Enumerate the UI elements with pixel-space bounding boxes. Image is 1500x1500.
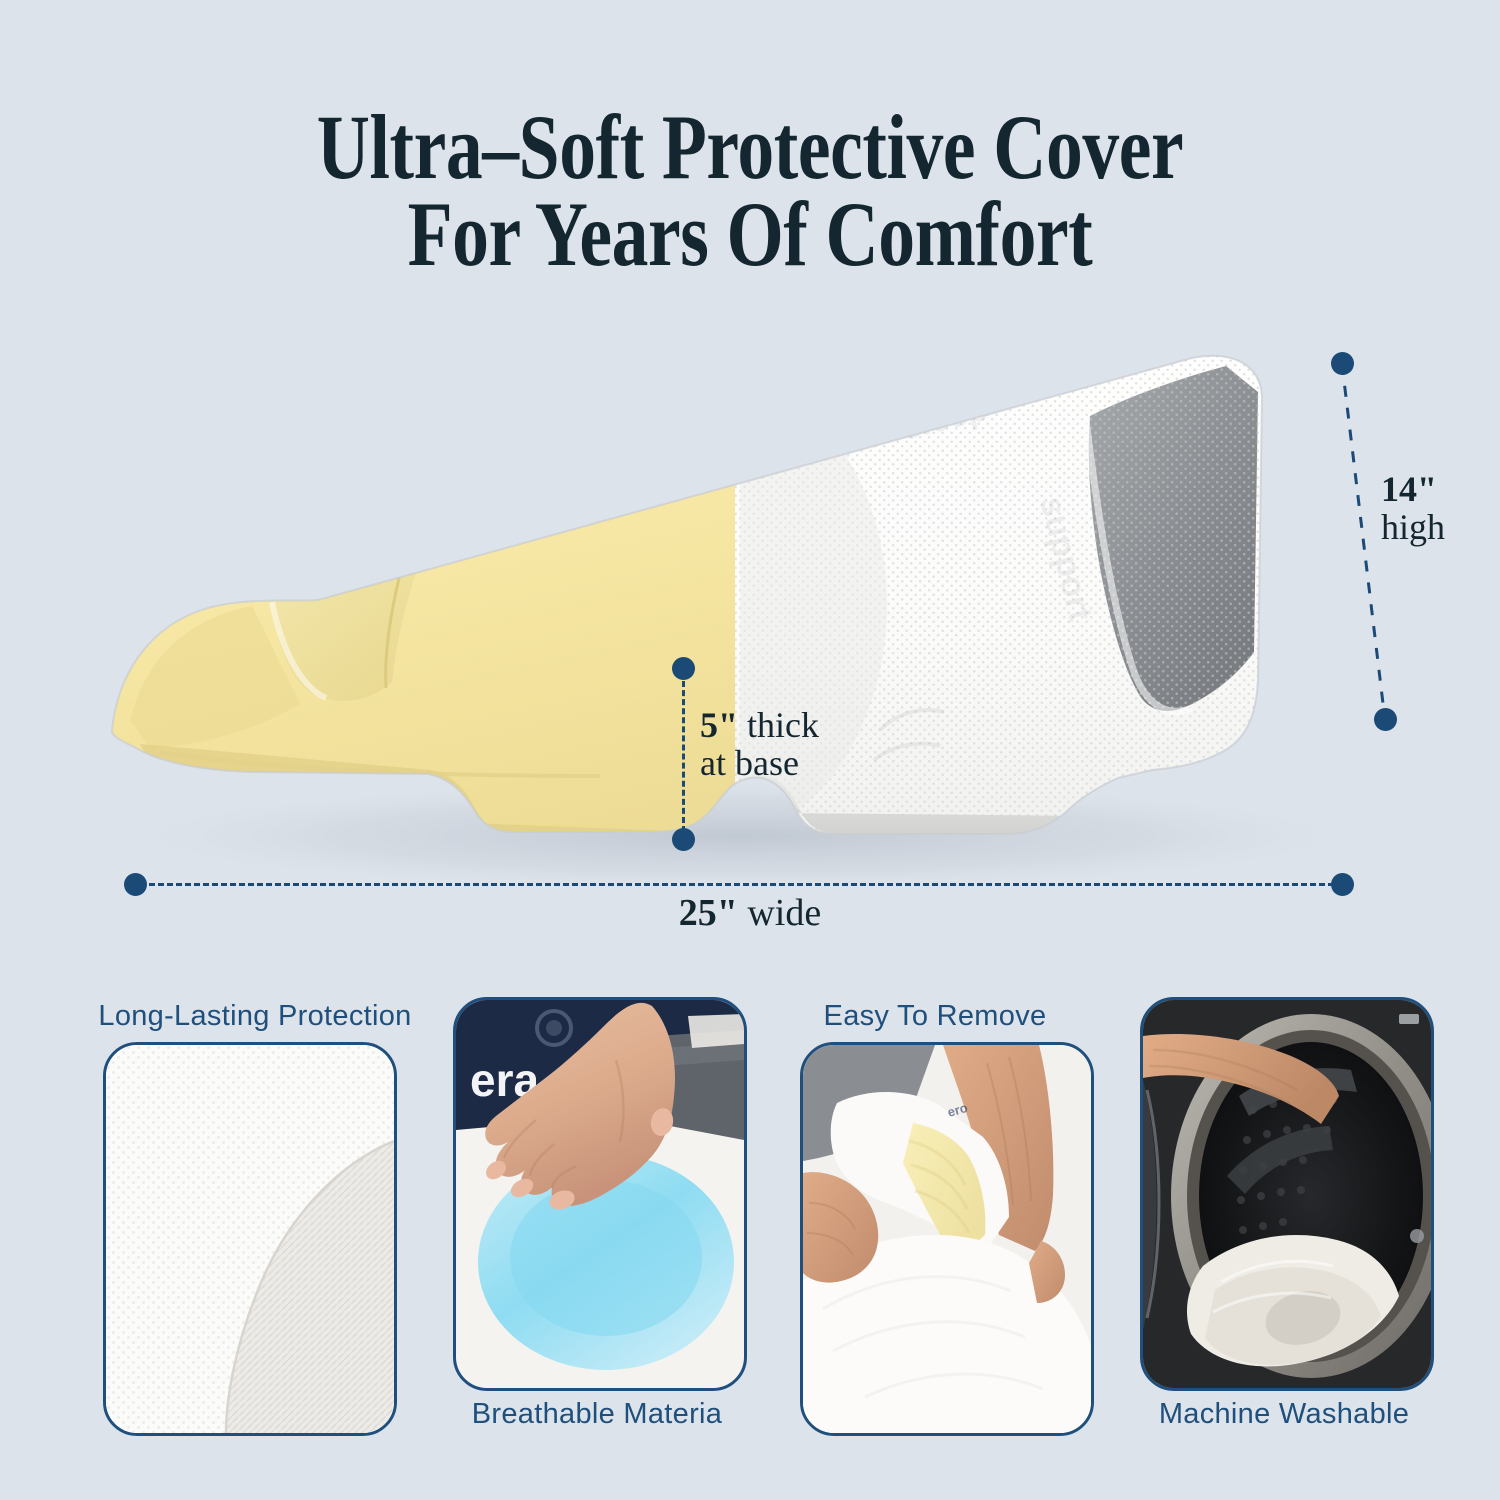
feature-caption-easy-to-remove: Easy To Remove: [790, 1000, 1080, 1033]
feature-caption-breathable-material: Breathable Materia: [452, 1398, 742, 1431]
height-dim-value: 14": [1381, 469, 1437, 509]
washing-machine-drum-image: [1143, 1000, 1431, 1388]
width-dim-value: 25": [679, 892, 738, 934]
feature-panel-easy-to-remove[interactable]: ero: [800, 1042, 1094, 1436]
infographic-root: Ultra–Soft Protective Cover For Years Of…: [0, 0, 1500, 1500]
feature-panel-row: Long-Lasting Protection: [0, 980, 1500, 1450]
feature-panel-long-lasting-protection[interactable]: [103, 1042, 397, 1436]
thickness-dim-value: 5": [700, 705, 738, 745]
hands-removing-cover-image: ero: [803, 1045, 1091, 1433]
headline-line-2: For Years Of Comfort: [150, 191, 1350, 278]
height-dim-label: 14" high: [1381, 470, 1445, 546]
width-dim-unit: wide: [747, 892, 821, 934]
thickness-dim-unit: thick: [747, 705, 819, 745]
width-dim-label: 25" wide: [0, 893, 1500, 933]
page-title: Ultra–Soft Protective Cover For Years Of…: [150, 104, 1350, 279]
fabric-texture-closeup-image: [106, 1045, 394, 1433]
thickness-dim-unit-2: at base: [700, 743, 799, 783]
feature-caption-long-lasting-protection: Long-Lasting Protection: [60, 1000, 450, 1033]
height-dim-unit: high: [1381, 507, 1445, 547]
product-hero-image: sleep support: [0, 300, 1500, 920]
width-dim-dashed-line: [140, 883, 1334, 886]
feature-panel-machine-washable[interactable]: [1140, 997, 1434, 1391]
feature-panel-breathable-material[interactable]: era: [453, 997, 747, 1391]
thickness-dim-label: 5" thick at base: [700, 706, 819, 782]
feature-caption-machine-washable: Machine Washable: [1138, 1398, 1430, 1431]
thickness-dim-dashed-line: [682, 672, 685, 832]
hand-pressing-cooling-surface-image: era: [456, 1000, 744, 1388]
